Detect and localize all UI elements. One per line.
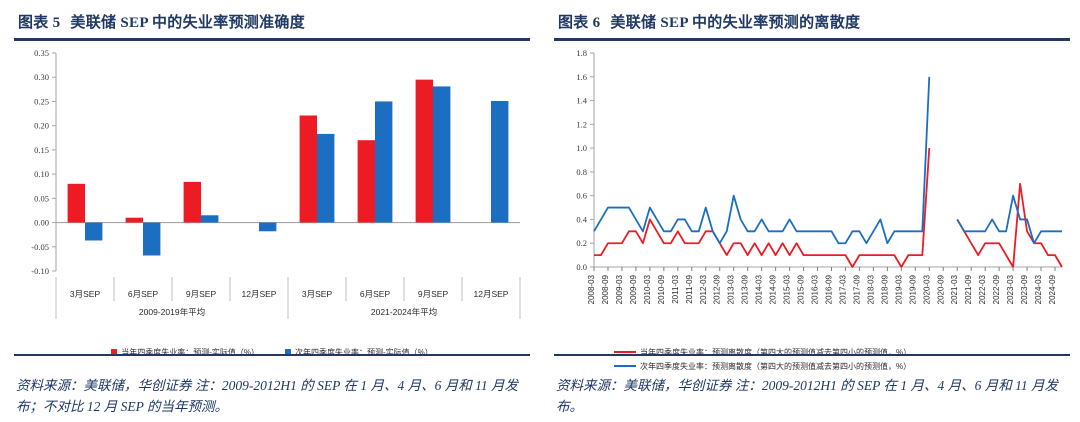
chart-5-ytick: 0.10: [34, 169, 49, 179]
chart-5-group-label: 2021-2024年平均: [371, 307, 437, 317]
figure-5-number: 5: [49, 15, 71, 31]
chart-6-ytick: 1.8: [576, 48, 587, 58]
figure-6-title-text: 美联储 SEP 中的失业率预测的离散度: [610, 15, 860, 31]
chart-5-xtick: 12月SEP: [474, 289, 509, 299]
chart-6-xtick: 2016-09: [824, 274, 833, 304]
figure-5-title: 图表5美联储 SEP 中的失业率预测准确度: [14, 0, 530, 38]
chart-5-ytick: 0.20: [34, 120, 49, 130]
chart-6-xtick: 2014-03: [755, 274, 764, 304]
figure-5-note: 资料来源：美联储，华创证券 注：2009-2012H1 的 SEP 在 1 月、…: [16, 376, 528, 418]
chart-6-ytick: 0.0: [576, 262, 587, 272]
chart-6-xtick: 2012-09: [713, 274, 722, 304]
chart-6-xtick: 2018-03: [866, 274, 875, 304]
chart-6-xtick: 2023-09: [1020, 274, 1029, 304]
chart-6-xtick: 2010-03: [643, 274, 652, 304]
chart-6-plot: 0.00.20.40.60.81.01.21.41.61.82008-03200…: [554, 45, 1070, 345]
chart-6-xtick: 2011-03: [671, 274, 680, 303]
figure-6-title: 图表6美联储 SEP 中的失业率预测的离散度: [554, 0, 1070, 38]
chart-5-xtick: 6月SEP: [360, 289, 391, 299]
chart-6-legend: 当年四季度失业率：预测离散度（第四大的预测值减去第四小的预测值，%） 次年四季度…: [614, 347, 1070, 372]
chart-6-xtick: 2017-03: [838, 274, 847, 304]
chart-5-bar: [85, 222, 102, 240]
legend-line-blue: [614, 365, 636, 368]
chart-6-xtick: 2010-09: [657, 274, 666, 304]
figure-panel-5: 图表5美联储 SEP 中的失业率预测准确度 -0.10-0.050.000.05…: [0, 0, 540, 422]
chart-5-bar: [491, 100, 508, 222]
chart-5-ytick: -0.05: [31, 241, 49, 251]
chart-6-xtick: 2008-09: [601, 274, 610, 304]
chart-5-xtick: 9月SEP: [418, 289, 449, 299]
legend-label-next-year-dispersion: 次年四季度失业率：预测离散度（第四大的预测值减去第四小的预测值，%）: [640, 361, 911, 372]
figure-sheet: 图表5美联储 SEP 中的失业率预测准确度 -0.10-0.050.000.05…: [0, 0, 1080, 422]
chart-6-xtick: 2015-09: [797, 274, 806, 304]
chart-6-line: [594, 76, 1062, 242]
chart-6-ytick: 1.4: [576, 95, 587, 105]
chart-5-xtick: 3月SEP: [302, 289, 333, 299]
chart-5-bar: [317, 133, 334, 222]
chart-6-xtick: 2009-03: [615, 274, 624, 304]
chart-6-line: [594, 148, 1062, 267]
chart-6-xtick: 2013-03: [727, 274, 736, 304]
chart-6-xtick: 2011-09: [685, 274, 694, 303]
chart-6-xtick: 2014-09: [769, 274, 778, 304]
chart-6-ytick: 0.2: [576, 238, 587, 248]
chart-6-xtick: 2019-03: [894, 274, 903, 304]
chart-5-xtick: 3月SEP: [70, 289, 101, 299]
chart-6-xtick: 2012-03: [699, 274, 708, 304]
legend-item-next-year-dispersion: 次年四季度失业率：预测离散度（第四大的预测值减去第四小的预测值，%）: [614, 361, 911, 372]
chart-6-xtick: 2022-09: [992, 274, 1001, 304]
chart-5-bar: [143, 222, 160, 255]
figure-6-title-prefix: 图表: [558, 15, 589, 31]
chart-6-svg: 0.00.20.40.60.81.01.21.41.61.82008-03200…: [554, 45, 1070, 345]
chart-6-ytick: 0.4: [576, 214, 587, 224]
chart-5-bar: [259, 222, 276, 231]
chart-6-xtick: 2016-03: [811, 274, 820, 304]
chart-5-bar: [126, 217, 143, 222]
chart-5-bar: [433, 86, 450, 222]
chart-5-ytick: 0.00: [34, 217, 49, 227]
chart-5-group-label: 2009-2019年平均: [139, 307, 205, 317]
chart-6-xtick: 2024-09: [1048, 274, 1057, 304]
chart-5-bar: [358, 140, 375, 222]
figure-5-title-rule: [14, 38, 530, 41]
figure-5-note-rule: [14, 354, 530, 357]
figure-6-number: 6: [589, 15, 611, 31]
chart-5-bar: [68, 183, 85, 222]
chart-5-ytick: 0.15: [34, 144, 49, 154]
figure-6-note: 资料来源：美联储，华创证券 注：2009-2012H1 的 SEP 在 1 月、…: [556, 376, 1068, 418]
chart-6-xtick: 2024-03: [1034, 274, 1043, 304]
chart-6-xtick: 2019-09: [908, 274, 917, 304]
chart-5-svg: -0.10-0.050.000.050.100.150.200.250.300.…: [14, 45, 530, 345]
chart-6-xtick: 2023-03: [1006, 274, 1015, 304]
chart-5-ytick: 0.35: [34, 48, 49, 58]
chart-6-xtick: 2015-03: [783, 274, 792, 304]
chart-6-xtick: 2017-09: [852, 274, 861, 304]
chart-5-plot: -0.10-0.050.000.050.100.150.200.250.300.…: [14, 45, 530, 345]
chart-5-bar: [375, 101, 392, 222]
chart-6-xtick: 2008-03: [587, 274, 596, 304]
chart-5-ytick: 0.25: [34, 96, 49, 106]
chart-6-ytick: 1.6: [576, 71, 587, 81]
chart-5-xtick: 9月SEP: [186, 289, 217, 299]
figure-6-title-rule: [554, 38, 1070, 41]
chart-6-xtick: 2020-09: [936, 274, 945, 304]
figure-5-title-prefix: 图表: [18, 15, 49, 31]
chart-5-ytick: 0.05: [34, 193, 49, 203]
chart-5-xtick: 12月SEP: [242, 289, 277, 299]
chart-5-bar: [300, 115, 317, 222]
chart-6-xtick: 2018-09: [880, 274, 889, 304]
chart-6-xtick: 2020-03: [922, 274, 931, 304]
chart-6-xtick: 2022-03: [978, 274, 987, 304]
chart-6-xtick: 2021-09: [964, 274, 973, 304]
chart-5-ytick: 0.30: [34, 72, 49, 82]
chart-5-xtick: 6月SEP: [128, 289, 159, 299]
chart-6-xtick: 2013-09: [741, 274, 750, 304]
chart-6-xtick: 2009-09: [629, 274, 638, 304]
chart-5-ytick: -0.10: [31, 266, 49, 276]
chart-6-ytick: 0.8: [576, 166, 587, 176]
chart-6-ytick: 1.0: [576, 143, 587, 153]
chart-6-ytick: 1.2: [576, 119, 587, 129]
figure-panel-6: 图表6美联储 SEP 中的失业率预测的离散度 0.00.20.40.60.81.…: [540, 0, 1080, 422]
chart-5-bar: [416, 79, 433, 222]
figure-6-note-rule: [554, 354, 1070, 357]
chart-5-bar: [201, 215, 218, 222]
figure-5-title-text: 美联储 SEP 中的失业率预测准确度: [70, 15, 305, 31]
chart-6-xtick: 2021-03: [950, 274, 959, 304]
chart-5-bar: [184, 181, 201, 222]
chart-6-ytick: 0.6: [576, 190, 587, 200]
